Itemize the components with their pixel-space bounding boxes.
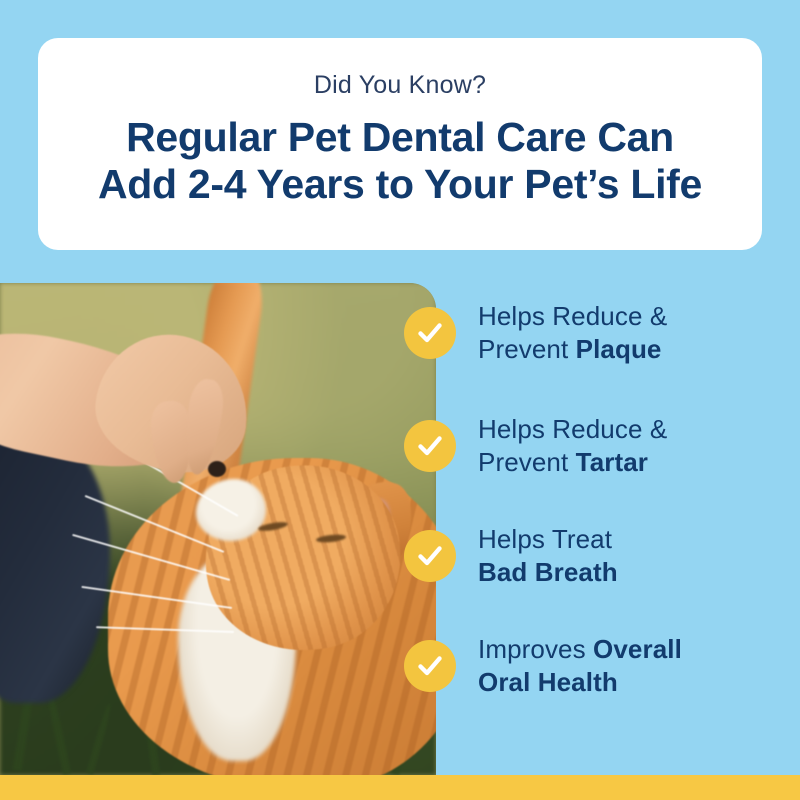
benefit-prefix: Helps Treat [478,524,612,554]
benefits-list: Helps Reduce & Prevent Plaque Helps Redu… [404,283,800,775]
benefit-label: Helps Treat Bad Breath [478,523,618,590]
benefit-label: Improves Overall Oral Health [478,633,682,700]
benefit-label: Helps Reduce & Prevent Tartar [478,413,667,480]
infographic-poster: Did You Know? Regular Pet Dental Care Ca… [0,0,800,800]
benefit-emphasis: Bad Breath [478,557,618,587]
benefit-emphasis: Tartar [576,447,648,477]
cat-photo [0,283,436,775]
headline-line-1: Regular Pet Dental Care Can [98,114,702,161]
benefit-item-bad-breath: Helps Treat Bad Breath [404,523,618,590]
dental-treat [208,461,226,477]
checkmark-icon [404,640,456,692]
page-title: Regular Pet Dental Care Can Add 2-4 Year… [98,114,702,208]
benefit-label: Helps Reduce & Prevent Plaque [478,300,667,367]
benefit-item-tartar: Helps Reduce & Prevent Tartar [404,413,667,480]
yellow-accent-bar [0,775,800,800]
checkmark-icon [404,307,456,359]
eyebrow-text: Did You Know? [314,72,486,100]
benefit-emphasis: Plaque [576,334,662,364]
benefit-item-oral-health: Improves Overall Oral Health [404,633,682,700]
headline-line-2: Add 2-4 Years to Your Pet’s Life [98,161,702,208]
checkmark-icon [404,420,456,472]
benefit-prefix: Improves [478,634,593,664]
benefit-item-plaque: Helps Reduce & Prevent Plaque [404,300,667,367]
header-card: Did You Know? Regular Pet Dental Care Ca… [38,38,762,250]
checkmark-icon [404,530,456,582]
